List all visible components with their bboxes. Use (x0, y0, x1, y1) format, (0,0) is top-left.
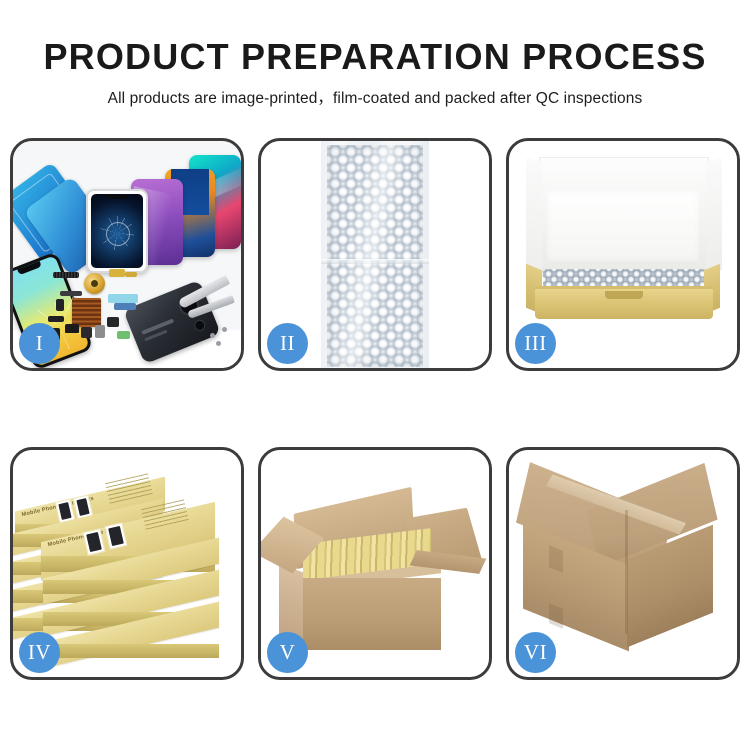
step-badge-6: VI (515, 632, 556, 673)
box-side-face (43, 644, 219, 658)
vibrator-motor-part (81, 327, 92, 338)
copper-mesh-part (72, 298, 101, 327)
header: PRODUCT PREPARATION PROCESS All products… (0, 0, 750, 108)
gold-contact-part (125, 272, 137, 277)
page-title: PRODUCT PREPARATION PROCESS (0, 0, 750, 77)
step-panel-3: III (506, 138, 740, 371)
steps-grid: I II (10, 138, 740, 680)
step-panel-4: Mobile Phone Spare Parts (10, 447, 244, 680)
speaker-coil-part (84, 273, 105, 294)
camera-lens-icon (193, 318, 207, 332)
flex-connector-part (53, 272, 79, 278)
step-panel-5: V (258, 447, 492, 680)
screw-part (210, 333, 215, 338)
step-badge-3: III (515, 323, 556, 364)
small-bracket-part (56, 299, 64, 311)
product-preparation-infographic: PRODUCT PREPARATION PROCESS All products… (0, 0, 750, 750)
small-bracket-part (60, 291, 82, 296)
antenna-strip-part (48, 316, 64, 322)
page-subtitle: All products are image-printed，film-coat… (0, 77, 750, 108)
flex-cable-part (108, 294, 138, 303)
step-badge-5: V (267, 632, 308, 673)
metal-shield-part (95, 325, 105, 338)
chip-part (107, 317, 119, 327)
box-inner-panel (547, 191, 699, 261)
screw-part (216, 341, 221, 346)
carton-front-panel (301, 578, 441, 650)
phone-display-cracked-dark (86, 189, 148, 273)
step-badge-4: IV (19, 632, 60, 673)
step-panel-2: II (258, 138, 492, 371)
step-badge-1: I (19, 323, 60, 364)
screw-part (222, 327, 227, 332)
phone-notch (106, 194, 128, 199)
plastic-sheen (321, 141, 429, 368)
gold-contact-part (109, 269, 125, 277)
speaker-module-part (65, 324, 79, 333)
carton-corner-seam (625, 510, 628, 634)
step-panel-1: I (10, 138, 244, 371)
box-front-notch (605, 291, 643, 299)
battery-connector-part (117, 331, 130, 339)
step-panel-6: VI (506, 447, 740, 680)
crack-pattern (100, 216, 134, 250)
flex-cable-part (114, 303, 136, 310)
kraft-box-right-4 (43, 622, 219, 648)
step-badge-2: II (267, 323, 308, 364)
